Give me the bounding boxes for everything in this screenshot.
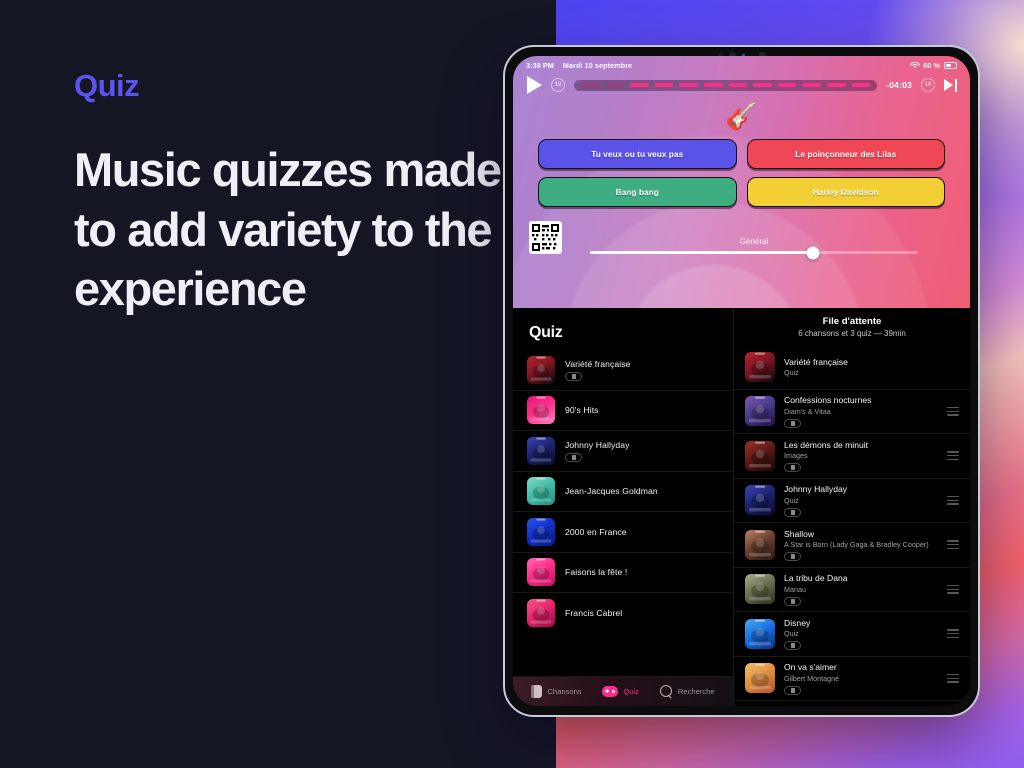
tablet-screen: 3:39 PM Mardi 10 septembre 60 % 10 -04:0… <box>513 56 970 706</box>
quiz-panel: Quiz Variété française90's HitsJohnny Ha… <box>513 308 734 706</box>
queue-item-meta: La tribu de DanaManau <box>784 573 938 606</box>
album-art <box>745 663 775 693</box>
quiz-item-label: Jean-Jacques Goldman <box>565 486 719 496</box>
queue-subtitle: 6 chansons et 3 quiz — 39min <box>746 329 958 338</box>
answer-button-3[interactable]: Bang bang <box>538 177 737 207</box>
queue-badge-icon <box>784 641 801 650</box>
drag-handle-icon[interactable] <box>947 585 959 594</box>
album-art <box>527 437 555 465</box>
battery-percent: 60 % <box>923 61 940 70</box>
volume-track[interactable] <box>590 251 918 254</box>
qr-code-icon[interactable] <box>529 221 562 254</box>
player-controls: 10 -04:03 10 <box>513 72 970 94</box>
queue-badge-icon <box>784 419 801 428</box>
volume-fill <box>590 251 813 254</box>
status-date: Mardi 10 septembre <box>563 61 632 70</box>
queue-item-meta: ShallowA Star is Born (Lady Gaga & Bradl… <box>784 529 938 562</box>
album-art <box>745 530 775 560</box>
progress-segment <box>753 83 772 87</box>
drag-handle-icon[interactable] <box>947 451 959 460</box>
progress-segment <box>679 83 698 87</box>
quiz-item-label: Variété française <box>565 359 719 369</box>
album-art <box>745 574 775 604</box>
quiz-item-label: 2000 en France <box>565 527 719 537</box>
album-art <box>745 441 775 471</box>
queue-item-meta: Confessions nocturnesDiam's & Vitaa <box>784 395 938 428</box>
book-icon <box>531 685 542 698</box>
quiz-item-label: Johnny Hallyday <box>565 440 719 450</box>
answer-grid: Tu veux ou tu veux pasLe poinçonneur des… <box>513 129 970 207</box>
rewind-10-button[interactable]: 10 <box>551 78 565 92</box>
drag-handle-icon[interactable] <box>947 407 959 416</box>
queue-badge-icon <box>784 552 801 561</box>
progress-segment <box>802 83 821 87</box>
queue-item-title: La tribu de Dana <box>784 573 938 583</box>
play-icon[interactable] <box>527 76 542 94</box>
queue-badge-icon <box>784 508 801 517</box>
answer-button-2[interactable]: Le poinçonneur des Lilas <box>747 139 946 169</box>
quiz-item-meta: 90's Hits <box>565 405 719 415</box>
player-panel: 3:39 PM Mardi 10 septembre 60 % 10 -04:0… <box>513 56 970 308</box>
queue-item-subtitle: Gilbert Montagné <box>784 674 938 683</box>
queue-list-item[interactable]: Confessions nocturnesDiam's & Vitaa <box>734 390 970 435</box>
tab-quiz[interactable]: Quiz <box>602 686 639 697</box>
answer-button-4[interactable]: Harley Davidson <box>747 177 946 207</box>
quiz-item-meta: 2000 en France <box>565 527 719 537</box>
quiz-badge-icon <box>565 372 582 381</box>
album-art <box>527 518 555 546</box>
queue-badge-icon <box>784 686 801 695</box>
progress-segment <box>606 83 625 87</box>
progress-segment <box>704 83 723 87</box>
queue-item-subtitle: A Star is Born (Lady Gaga & Bradley Coop… <box>784 540 938 549</box>
volume-slider[interactable]: Général <box>590 237 918 254</box>
queue-item-meta: Johnny HallydayQuiz <box>784 484 938 517</box>
queue-item-subtitle: Quiz <box>784 629 938 638</box>
progress-segment <box>581 83 600 87</box>
quiz-item-label: Francis Cabrel <box>565 608 719 618</box>
album-art <box>527 599 555 627</box>
quiz-item-meta: Francis Cabrel <box>565 608 719 618</box>
queue-item-subtitle: Diam's & Vitaa <box>784 407 938 416</box>
tablet-device: 3:39 PM Mardi 10 septembre 60 % 10 -04:0… <box>503 45 980 717</box>
wifi-icon <box>910 62 919 69</box>
album-art <box>745 485 775 515</box>
quiz-panel-title: Quiz <box>513 308 733 350</box>
drag-handle-icon[interactable] <box>947 674 959 683</box>
queue-item-meta: DisneyQuiz <box>784 618 938 651</box>
album-art <box>745 619 775 649</box>
queue-item-title: Confessions nocturnes <box>784 395 938 405</box>
queue-item-title: Shallow <box>784 529 938 539</box>
queue-list[interactable]: Variété françaiseQuizConfessions nocturn… <box>734 345 970 706</box>
content-area: Quiz Variété française90's HitsJohnny Ha… <box>513 308 970 706</box>
quiz-item-label: Faisons la fête ! <box>565 567 719 577</box>
album-art <box>527 396 555 424</box>
progress-segment <box>630 83 649 87</box>
quiz-list-item[interactable]: Variété française <box>513 350 733 391</box>
status-bar: 3:39 PM Mardi 10 septembre 60 % <box>513 56 970 72</box>
queue-item-title: Disney <box>784 618 938 628</box>
tab-label: Chansons <box>547 687 581 696</box>
quiz-item-meta: Jean-Jacques Goldman <box>565 486 719 496</box>
progress-segment <box>827 83 846 87</box>
drag-handle-icon[interactable] <box>947 540 959 549</box>
guitar-emoji: 🎸 <box>513 103 970 129</box>
tab-bar: ChansonsQuizRecherche <box>513 676 733 706</box>
album-art <box>527 356 555 384</box>
volume-label: Général <box>590 237 918 246</box>
quiz-item-label: 90's Hits <box>565 405 719 415</box>
tab-chansons[interactable]: Chansons <box>531 685 581 698</box>
queue-panel: File d'attente 6 chansons et 3 quiz — 39… <box>734 308 970 706</box>
remaining-time: -04:03 <box>886 80 912 90</box>
queue-item-subtitle: Quiz <box>784 368 959 377</box>
quiz-item-meta: Variété française <box>565 359 719 381</box>
marketing-copy: Quiz Music quizzes made to add variety t… <box>74 68 514 319</box>
queue-item-title: On va s'aimer <box>784 662 938 672</box>
quiz-item-meta: Johnny Hallyday <box>565 440 719 462</box>
queue-item-meta: Les démons de minuitImages <box>784 440 938 473</box>
queue-item-title: Johnny Hallyday <box>784 484 938 494</box>
queue-item-subtitle: Quiz <box>784 496 938 505</box>
quiz-list-item[interactable]: Faisons la fête ! <box>513 553 733 594</box>
album-art <box>527 477 555 505</box>
queue-badge-icon <box>784 463 801 472</box>
tab-label: Recherche <box>678 687 715 696</box>
next-track-icon[interactable] <box>944 79 957 92</box>
queue-list-item[interactable]: Johnny HallydayQuiz <box>734 479 970 524</box>
drag-handle-icon[interactable] <box>947 496 959 505</box>
progress-segment <box>729 83 748 87</box>
status-time: 3:39 PM <box>526 61 554 70</box>
drag-handle-icon[interactable] <box>947 629 959 638</box>
quiz-list-item[interactable]: 2000 en France <box>513 512 733 553</box>
answer-button-1[interactable]: Tu veux ou tu veux pas <box>538 139 737 169</box>
queue-item-meta: On va s'aimerGilbert Montagné <box>784 662 938 695</box>
quiz-badge-icon <box>565 453 582 462</box>
album-art <box>527 558 555 586</box>
volume-knob[interactable] <box>807 246 820 259</box>
forward-10-button[interactable]: 10 <box>921 78 935 92</box>
album-art <box>745 352 775 382</box>
album-art <box>745 396 775 426</box>
quiz-list[interactable]: Variété française90's HitsJohnny Hallyda… <box>513 350 733 676</box>
progress-segment <box>655 83 674 87</box>
queue-item-meta: Variété françaiseQuiz <box>784 357 959 378</box>
progress-track[interactable] <box>574 80 877 91</box>
queue-header: File d'attente 6 chansons et 3 quiz — 39… <box>734 308 970 345</box>
battery-icon <box>944 62 957 69</box>
quiz-list-item[interactable]: 90's Hits <box>513 391 733 432</box>
player-footer: Général <box>513 207 970 254</box>
queue-list-item[interactable]: On va s'aimerGilbert Montagné <box>734 657 970 702</box>
tab-recherche[interactable]: Recherche <box>660 685 715 698</box>
queue-item-title: Les démons de minuit <box>784 440 938 450</box>
queue-item-title: Variété française <box>784 357 959 367</box>
queue-list-item[interactable]: Variété françaiseQuiz <box>734 345 970 390</box>
queue-list-item[interactable]: Les démons de minuitImages <box>734 434 970 479</box>
quiz-item-meta: Faisons la fête ! <box>565 567 719 577</box>
queue-list-item[interactable]: ShallowA Star is Born (Lady Gaga & Bradl… <box>734 523 970 568</box>
queue-list-item[interactable]: DisneyQuiz <box>734 612 970 657</box>
quiz-list-item[interactable]: Francis Cabrel <box>513 593 733 634</box>
quiz-list-item[interactable]: Johnny Hallyday <box>513 431 733 472</box>
progress-segment <box>852 83 871 87</box>
queue-badge-icon <box>784 597 801 606</box>
quiz-list-item[interactable]: Jean-Jacques Goldman <box>513 472 733 513</box>
search-icon <box>660 685 673 698</box>
eyebrow-label: Quiz <box>74 68 514 104</box>
page-title: Music quizzes made to add variety to the… <box>74 140 514 319</box>
queue-item-subtitle: Manau <box>784 585 938 594</box>
gamepad-icon <box>602 686 618 697</box>
tab-label: Quiz <box>623 687 639 696</box>
progress-segment <box>778 83 797 87</box>
queue-item-subtitle: Images <box>784 451 938 460</box>
queue-list-item[interactable]: La tribu de DanaManau <box>734 568 970 613</box>
queue-title: File d'attente <box>746 316 958 327</box>
